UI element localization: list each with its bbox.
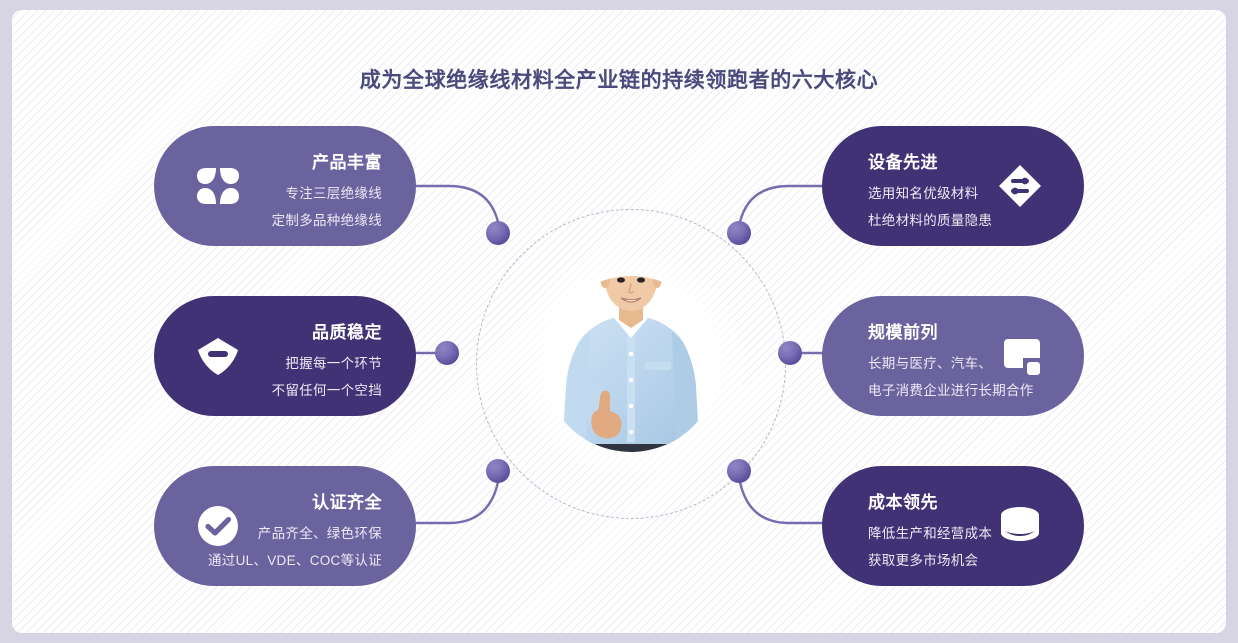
- connector-right-top: [740, 186, 822, 222]
- gem-minus-icon: [194, 332, 242, 380]
- card-line: 选用知名优级材料: [868, 182, 992, 202]
- center-photo-circle: [543, 276, 719, 452]
- four-petal-clover-icon: [194, 162, 242, 210]
- connector-left-bottom: [416, 482, 498, 523]
- diamond-slider-icon: [996, 162, 1044, 210]
- card-title: 品质稳定: [272, 318, 382, 343]
- card-text-certification-complete: 认证齐全 产品齐全、绿色环保 通过UL、VDE、COC等认证: [208, 488, 382, 576]
- card-certification-complete[interactable]: 认证齐全 产品齐全、绿色环保 通过UL、VDE、COC等认证: [154, 466, 416, 586]
- card-line: 专注三层绝缘线: [272, 182, 382, 202]
- card-line: 把握每一个环节: [272, 352, 382, 372]
- card-title: 成本领先: [868, 488, 992, 513]
- node-dot-left-middle: [435, 341, 459, 365]
- card-line: 长期与医疗、汽车、: [868, 352, 1034, 372]
- card-line: 通过UL、VDE、COC等认证: [208, 549, 382, 569]
- card-title: 设备先进: [868, 148, 992, 173]
- card-text-equipment-advanced: 设备先进 选用知名优级材料 杜绝材料的质量隐患: [868, 148, 992, 236]
- content-sheet: 成为全球绝缘线材料全产业链的持续领跑者的六大核心: [12, 10, 1226, 633]
- card-product-rich[interactable]: 产品丰富 专注三层绝缘线 定制多品种绝缘线: [154, 126, 416, 246]
- card-title: 规模前列: [868, 318, 1034, 343]
- card-line: 产品齐全、绿色环保: [208, 522, 382, 542]
- node-dot-right-middle: [778, 341, 802, 365]
- person-photo: [506, 234, 756, 484]
- card-line: 获取更多市场机会: [868, 549, 992, 569]
- connector-right-bottom: [740, 482, 822, 523]
- card-text-cost-leading: 成本领先 降低生产和经营成本 获取更多市场机会: [868, 488, 992, 576]
- card-line: 定制多品种绝缘线: [272, 209, 382, 229]
- connector-left-top: [416, 186, 498, 222]
- card-line: 电子消费企业进行长期合作: [868, 379, 1034, 399]
- card-text-quality-stable: 品质稳定 把握每一个环节 不留任何一个空挡: [272, 318, 382, 406]
- card-scale-leading[interactable]: 规模前列 长期与医疗、汽车、 电子消费企业进行长期合作: [822, 296, 1084, 416]
- card-line: 不留任何一个空挡: [272, 379, 382, 399]
- card-equipment-advanced[interactable]: 设备先进 选用知名优级材料 杜绝材料的质量隐患: [822, 126, 1084, 246]
- card-cost-leading[interactable]: 成本领先 降低生产和经营成本 获取更多市场机会: [822, 466, 1084, 586]
- infographic-canvas: 成为全球绝缘线材料全产业链的持续领跑者的六大核心: [0, 0, 1238, 643]
- card-quality-stable[interactable]: 品质稳定 把握每一个环节 不留任何一个空挡: [154, 296, 416, 416]
- card-title: 认证齐全: [208, 488, 382, 513]
- card-line: 降低生产和经营成本: [868, 522, 992, 542]
- card-title: 产品丰富: [272, 148, 382, 173]
- database-stack-icon: [996, 502, 1044, 550]
- card-text-product-rich: 产品丰富 专注三层绝缘线 定制多品种绝缘线: [272, 148, 382, 236]
- card-line: 杜绝材料的质量隐患: [868, 209, 992, 229]
- card-text-scale-leading: 规模前列 长期与医疗、汽车、 电子消费企业进行长期合作: [868, 318, 1034, 406]
